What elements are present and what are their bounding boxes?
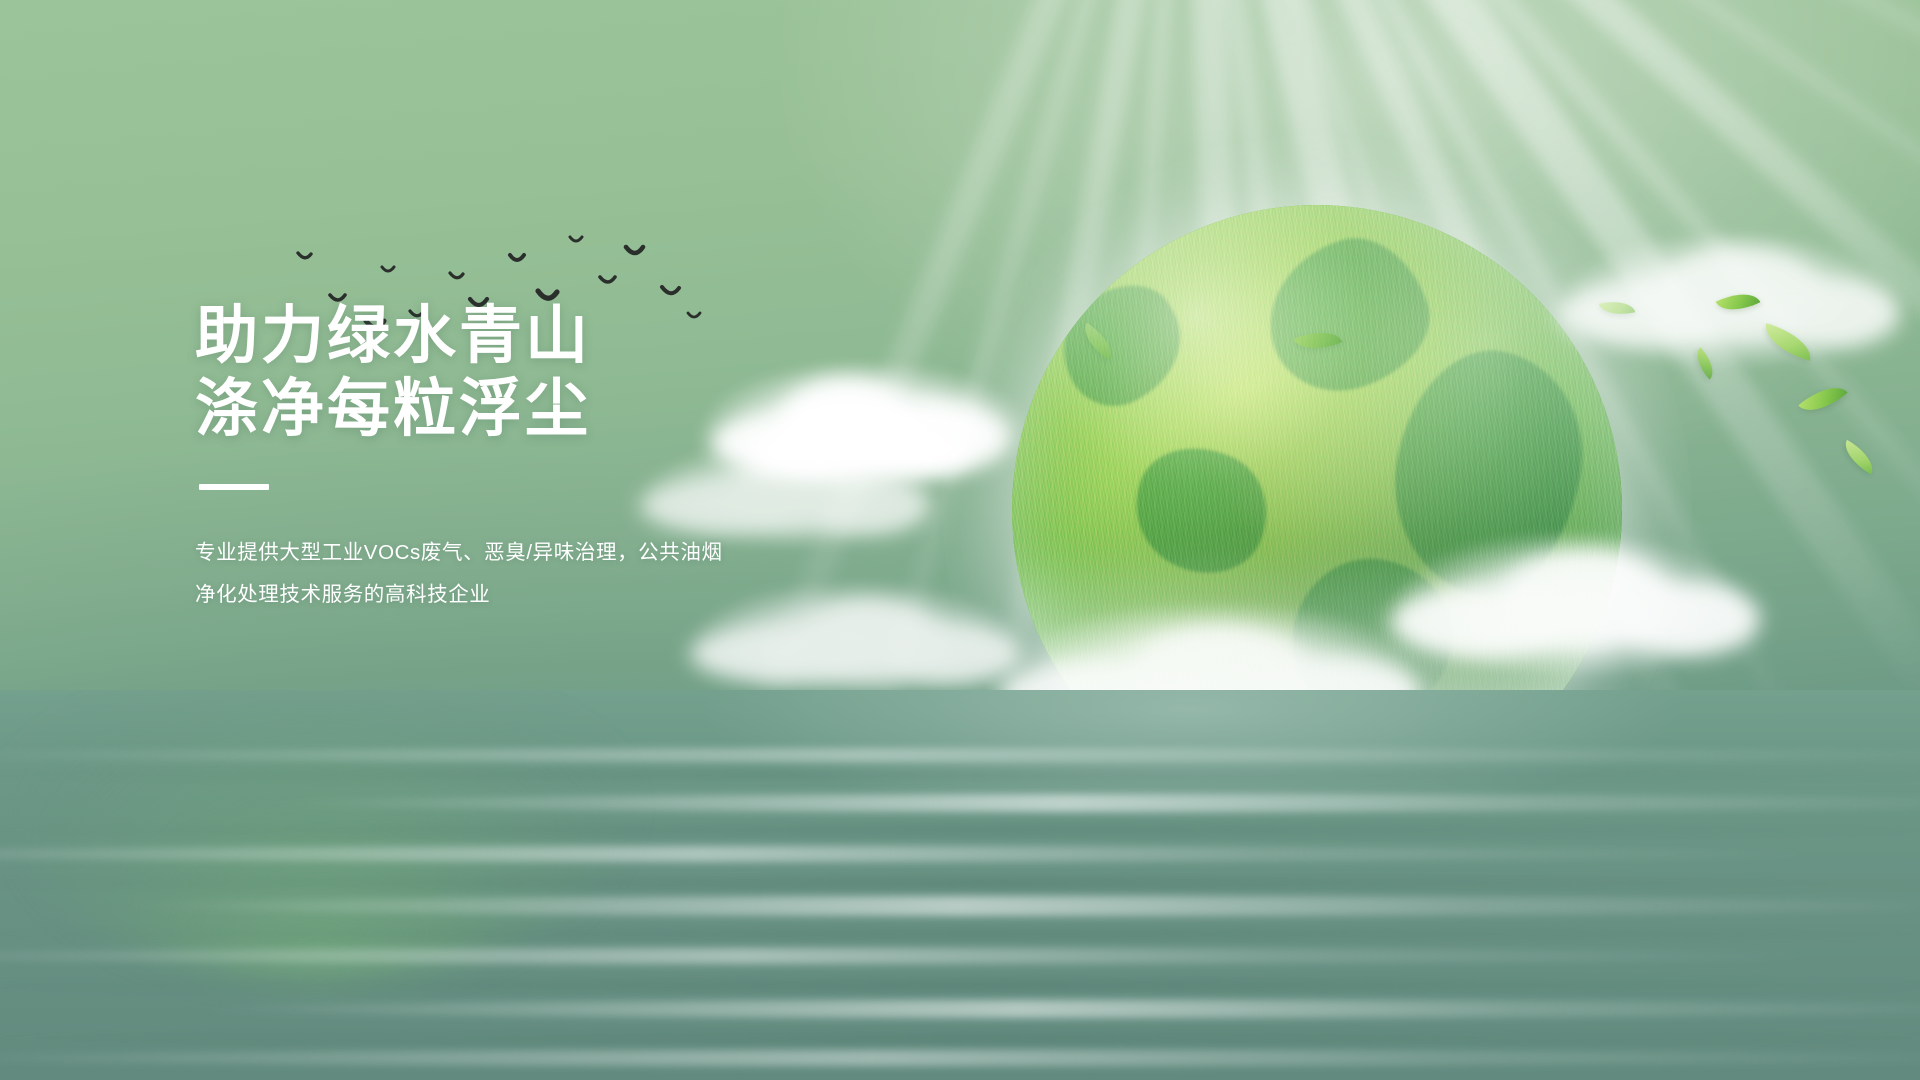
globe-water-reflection <box>8 690 628 980</box>
headline-line-1: 助力绿水青山 <box>195 301 591 371</box>
leaf-icon <box>1798 376 1847 422</box>
headline-line-2: 涤净每粒浮尘 <box>195 373 895 446</box>
hero-copy: 助力绿水青山 涤净每粒浮尘 专业提供大型工业VOCs废气、恶臭/异味治理，公共油… <box>195 300 895 616</box>
page-title: 助力绿水青山 涤净每粒浮尘 <box>195 300 895 446</box>
leaf-icon <box>1716 284 1761 320</box>
water-reflection <box>0 690 1920 1080</box>
leaf-icon <box>1689 347 1720 379</box>
leaf-icon <box>1760 323 1817 360</box>
hero-banner: 助力绿水青山 涤净每粒浮尘 专业提供大型工业VOCs废气、恶臭/异味治理，公共油… <box>0 0 1920 1080</box>
hero-description: 专业提供大型工业VOCs废气、恶臭/异味治理，公共油烟净化处理技术服务的高科技企… <box>195 532 735 616</box>
title-divider <box>199 484 269 490</box>
leaf-icon <box>1838 440 1880 475</box>
